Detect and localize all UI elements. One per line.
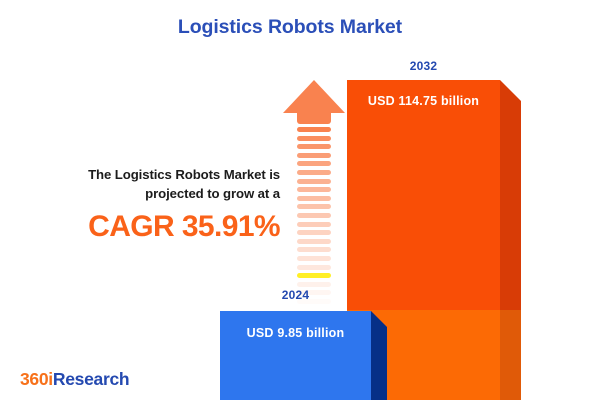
arrow-stripe	[297, 222, 331, 227]
arrow-stripe	[297, 247, 331, 252]
bar-2024-side-face	[371, 311, 387, 400]
arrow-stripe	[297, 230, 331, 235]
cagr-value-text: CAGR 35.91%	[40, 210, 280, 244]
infographic-canvas: Logistics Robots Market 2032 USD 114.75 …	[0, 0, 600, 400]
growth-arrow-icon	[283, 80, 345, 292]
cagr-lead-line-2: projected to grow at a	[145, 186, 280, 201]
bar-2032-side-face-lower	[500, 310, 521, 400]
cagr-lead-text: The Logistics Robots Market is projected…	[40, 166, 280, 203]
bar-2024-front-face	[220, 311, 371, 400]
arrow-stripe	[297, 144, 331, 149]
arrow-stripe	[297, 179, 331, 184]
cagr-lead-line-1: The Logistics Robots Market is	[88, 167, 280, 182]
bar-label-2032: 2032	[347, 59, 500, 73]
arrow-stripe	[297, 161, 331, 166]
arrow-stripe	[297, 127, 331, 132]
arrow-stripe	[297, 187, 331, 192]
brand-logo: 360iResearch	[20, 369, 129, 390]
arrow-stripes	[297, 127, 331, 292]
arrow-stripe	[297, 282, 331, 287]
arrow-stripe	[297, 239, 331, 244]
logo-prefix: 360i	[20, 369, 53, 389]
arrow-stripe	[297, 265, 331, 270]
arrow-stripe	[297, 136, 331, 141]
arrow-stripe	[297, 273, 331, 278]
arrow-stripe	[297, 170, 331, 175]
cagr-annotation: The Logistics Robots Market is projected…	[40, 166, 280, 244]
bar-2024-value-label: USD 9.85 billion	[220, 326, 371, 340]
arrow-neck	[297, 109, 331, 124]
bar-2024: USD 9.85 billion	[220, 311, 387, 400]
logo-suffix: Research	[53, 369, 129, 389]
arrow-stripe	[297, 204, 331, 209]
page-title: Logistics Robots Market	[0, 16, 580, 39]
arrow-stripe	[297, 213, 331, 218]
bar-label-2024: 2024	[220, 288, 371, 302]
arrow-stripe	[297, 153, 331, 158]
bar-2032-value-label: USD 114.75 billion	[347, 94, 500, 108]
arrow-stripe	[297, 196, 331, 201]
arrow-stripe	[297, 256, 331, 261]
